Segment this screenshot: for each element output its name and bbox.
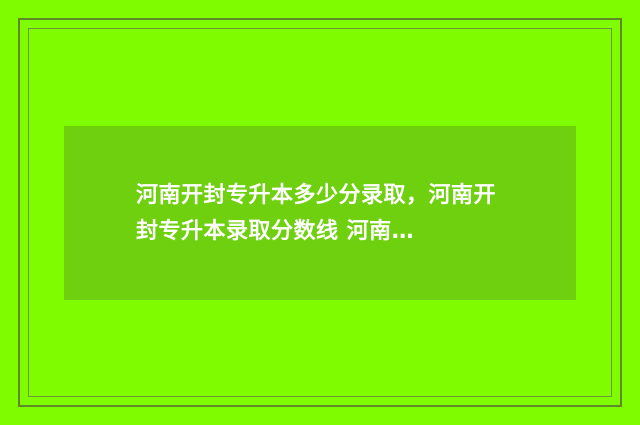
headline-text: 河南开封专升本多少分录取，河南开封专升本录取分数线 河南… bbox=[136, 178, 516, 250]
page-canvas: 河南开封专升本多少分录取，河南开封专升本录取分数线 河南… bbox=[0, 0, 640, 425]
content-panel: 河南开封专升本多少分录取，河南开封专升本录取分数线 河南… bbox=[64, 126, 576, 300]
